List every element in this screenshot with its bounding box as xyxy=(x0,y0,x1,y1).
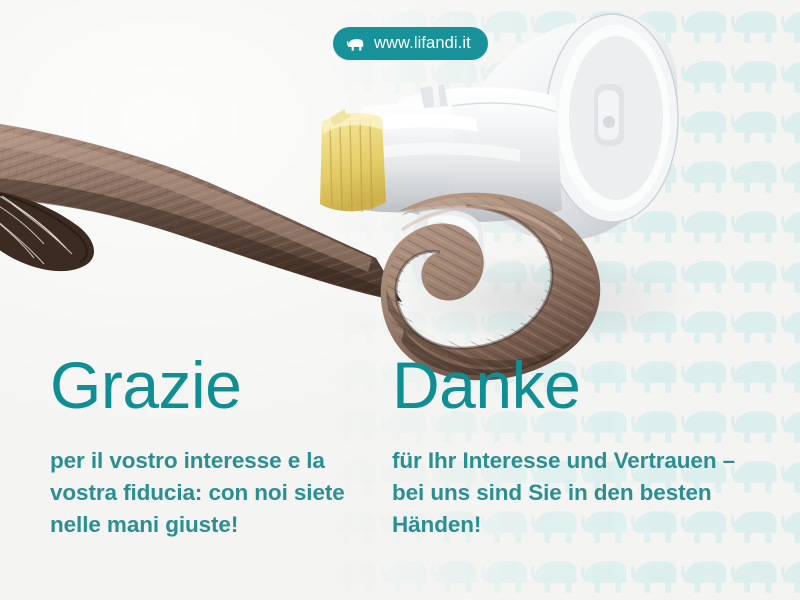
website-url-text: www.lifandi.it xyxy=(374,35,471,52)
italian-body-text: per il vostro interesse e la vostra fidu… xyxy=(50,418,370,541)
italian-headline: Grazie xyxy=(50,352,370,418)
italian-column: Grazie per il vostro interesse e la vost… xyxy=(50,352,370,541)
poster-canvas: www.lifandi.it Grazie per il vostro inte… xyxy=(0,0,800,600)
german-body-text: für Ihr Interesse und Vertrauen – bei un… xyxy=(392,418,752,541)
website-url-badge[interactable]: www.lifandi.it xyxy=(333,27,488,60)
thankyou-columns: Grazie per il vostro interesse e la vost… xyxy=(0,352,800,592)
german-headline: Danke xyxy=(392,352,752,418)
german-column: Danke für Ihr Interesse und Vertrauen – … xyxy=(392,352,752,541)
elephant-icon xyxy=(346,36,365,51)
